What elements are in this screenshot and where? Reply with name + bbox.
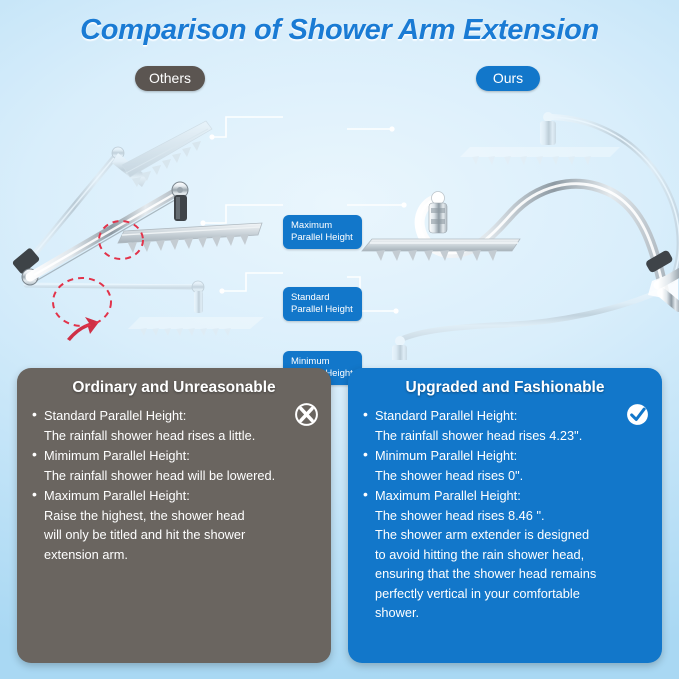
bullet-line: extension arm. [31,545,321,565]
left-product-illustration [12,121,264,360]
bullet-line: The rainfall shower head rises 4.23". [362,426,652,446]
panel-left-heading: Ordinary and Unreasonable [17,379,331,397]
bullet-heading: Minimum Parallel Height: [362,446,652,466]
bullet-heading: Maximum Parallel Height: [362,486,652,506]
bullet-item: Minimum Parallel Height: The shower head… [362,446,652,485]
bullet-line: will only be titled and hit the shower [31,525,321,545]
page-title: Comparison of Shower Arm Extension [0,14,679,47]
callout-line-1: Standard [291,292,355,304]
bullet-item: Standard Parallel Height: The rainfall s… [31,406,321,445]
callout-line-2: Parallel Height [291,304,355,316]
callout-connector-lines [203,117,404,311]
bullet-heading: Standard Parallel Height: [362,406,652,426]
bullet-item: Maximum Parallel Height: The shower head… [362,486,652,623]
badge-others: Others [135,66,205,91]
callout-maximum-parallel-height: Maximum Parallel Height [283,215,362,249]
infographic-page: Comparison of Shower Arm Extension Other… [0,0,679,679]
bullet-line: The shower arm extender is designed [362,525,652,545]
bullet-line: to avoid hitting the rain shower head, [362,545,652,565]
bullet-line: shower. [362,603,652,623]
callout-line-1: Minimum [291,356,355,368]
callout-line-1: Maximum [291,220,355,232]
illustration-stage: Maximum Parallel Height Standard Paralle… [0,95,679,360]
bullet-line: The shower head rises 0". [362,466,652,486]
bullet-item: Maximum Parallel Height: Raise the highe… [31,486,321,564]
callout-standard-parallel-height: Standard Parallel Height [283,287,362,321]
bullet-line: perfectly vertical in your comfortable [362,584,652,604]
panel-left-body: Standard Parallel Height: The rainfall s… [17,406,331,564]
rotation-arrow-icon [67,317,104,360]
right-arm-minimum-ghost [322,291,660,360]
panel-right-heading: Upgraded and Fashionable [348,379,662,397]
bullet-line: Raise the highest, the shower head [31,506,321,526]
right-product-illustration [322,112,679,360]
bullet-heading: Maximum Parallel Height: [31,486,321,506]
badge-ours: Ours [476,66,540,91]
bullet-heading: Mimimum Parallel Height: [31,446,321,466]
bullet-item: Standard Parallel Height: The rainfall s… [362,406,652,445]
left-arm-minimum-ghost [26,281,264,336]
bullet-line: The rainfall shower head will be lowered… [31,466,321,486]
right-arm-standard [362,184,679,307]
panel-upgraded: Upgraded and Fashionable Standard Parall… [348,368,662,663]
bullet-line: The shower head rises 8.46 ". [362,506,652,526]
bullet-item: Mimimum Parallel Height: The rainfall sh… [31,446,321,485]
bullet-heading: Standard Parallel Height: [31,406,321,426]
bullet-line: The rainfall shower head rises a little. [31,426,321,446]
panel-right-body: Standard Parallel Height: The rainfall s… [348,406,662,623]
callout-line-2: Parallel Height [291,232,355,244]
panel-ordinary: Ordinary and Unreasonable Standard Paral… [17,368,331,663]
bullet-line: ensuring that the shower head remains [362,564,652,584]
